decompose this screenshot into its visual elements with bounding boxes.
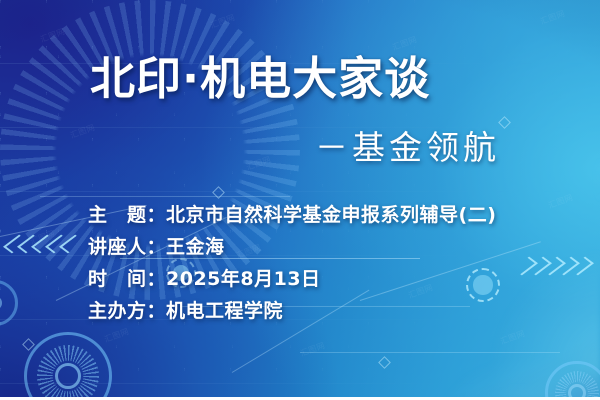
info-value: 北京市自然科学基金申报系列辅导(二): [166, 206, 496, 226]
lecture-poster: 汇图网 汇图网 汇图网 汇图网 汇图网 汇图网 汇图网 汇图网 汇图网 汇图网 …: [0, 0, 600, 400]
info-value: 机电工程学院: [166, 302, 283, 322]
info-label: 主 题：: [88, 206, 166, 226]
info-label: 时 间：: [88, 270, 166, 290]
info-label: 讲座人：: [88, 238, 166, 258]
info-row-topic: 主 题：北京市自然科学基金申报系列辅导(二): [88, 206, 496, 226]
info-row-organizer: 主办方：机电工程学院: [88, 302, 496, 322]
info-block: 主 题：北京市自然科学基金申报系列辅导(二) 讲座人：王金海 时 间：2025年…: [88, 206, 496, 322]
info-row-time: 时 间：2025年8月13日: [88, 270, 496, 290]
info-value: 2025年8月13日: [166, 270, 321, 290]
info-row-speaker: 讲座人：王金海: [88, 238, 496, 258]
info-value: 王金海: [166, 238, 225, 258]
page-subtitle: －基金领航: [315, 121, 500, 169]
page-title: 北印·机电大家谈: [90, 42, 430, 107]
info-label: 主办方：: [88, 302, 166, 322]
